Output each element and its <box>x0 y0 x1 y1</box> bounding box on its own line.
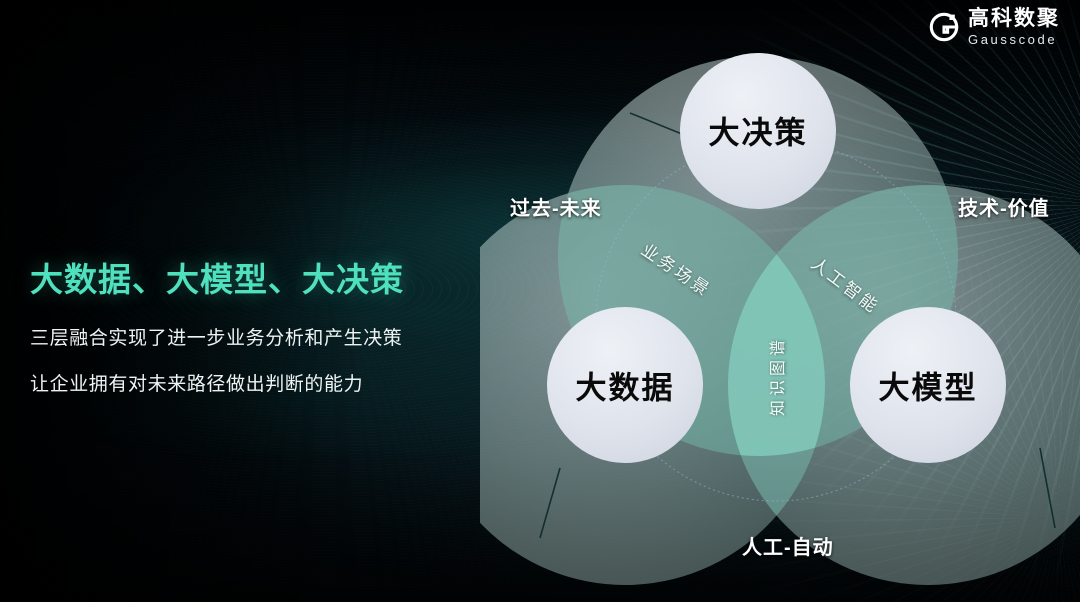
slide-canvas: 高科数聚 Gausscode 大数据、大模型、大决策 三层融合实现了进一步业务分… <box>0 0 1080 602</box>
subtitle-line-1: 三层融合实现了进一步业务分析和产生决策 <box>30 323 460 350</box>
venn-diagram <box>480 18 1080 602</box>
axis-label-tech-value: 技术-价值 <box>958 192 1050 221</box>
axis-label-manual-auto: 人工-自动 <box>742 531 834 560</box>
node-label-model: 大模型 <box>879 363 978 408</box>
node-label-bigdata: 大数据 <box>576 363 675 408</box>
page-title: 大数据、大模型、大决策 <box>30 253 460 301</box>
intersection-label-kg: 知识图谱 <box>764 336 788 416</box>
node-label-decision: 大决策 <box>709 108 808 153</box>
axis-label-past-future: 过去-未来 <box>510 192 602 221</box>
subtitle-line-2: 让企业拥有对未来路径做出判断的能力 <box>30 369 460 396</box>
copy-block: 大数据、大模型、大决策 三层融合实现了进一步业务分析和产生决策 让企业拥有对未来… <box>30 253 460 396</box>
